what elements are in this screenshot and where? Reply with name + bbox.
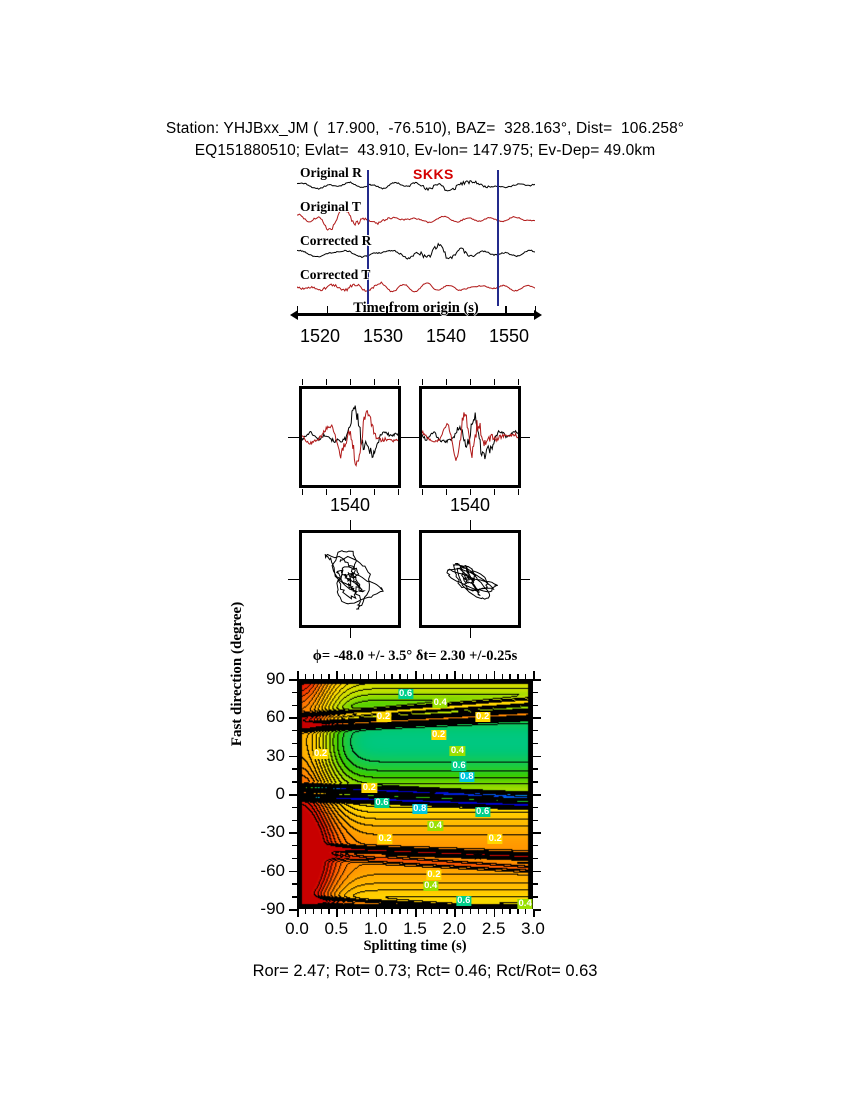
x-axis-tick (344, 674, 345, 679)
x-axis-tick (439, 674, 440, 679)
trace-row: Original T (297, 202, 535, 237)
time-axis-title: Time from origin (s) (297, 300, 535, 317)
x-axis-tick (352, 909, 353, 914)
y-axis-tick (289, 832, 297, 834)
y-axis-tick (292, 896, 297, 897)
y-axis-tick (533, 820, 538, 821)
x-axis-tick (407, 909, 408, 914)
contour-label: 0.4 (518, 899, 533, 909)
x-axis-tick-label: 0.5 (325, 919, 349, 939)
mid-waveform-tick (374, 379, 375, 385)
y-axis-tick (292, 820, 297, 821)
x-axis-tick (376, 909, 378, 917)
x-axis-tick (423, 909, 424, 914)
y-axis-tick-label: -60 (245, 861, 285, 881)
x-axis-tick (384, 909, 385, 914)
y-axis-tick (533, 794, 541, 796)
contour-label: 0.2 (475, 712, 490, 722)
x-axis-tick (533, 671, 535, 679)
mid-waveform-tick (326, 379, 327, 385)
y-axis-tick-label: 60 (245, 707, 285, 727)
time-tick-label: 1530 (363, 326, 403, 347)
contour-label: 0.8 (459, 772, 474, 782)
x-axis-tick-label: 0.0 (285, 919, 309, 939)
y-axis-tick (289, 756, 297, 758)
y-axis-tick (533, 896, 538, 897)
x-axis-tick (478, 909, 479, 914)
contour-label: 0.2 (313, 749, 328, 759)
best-solution-star-marker: ★ (472, 850, 485, 860)
header-line-station: Station: YHJBxx_JM ( 17.900, -76.510), B… (0, 118, 850, 140)
y-axis-tick (292, 692, 297, 693)
x-axis-tick (525, 674, 526, 679)
x-axis-tick (446, 909, 447, 914)
trace-row: Original R (297, 168, 535, 203)
x-axis-tick (321, 909, 322, 914)
contour-label: 0.6 (451, 761, 466, 771)
y-axis-tick (533, 832, 541, 834)
mid-waveform-tick (446, 489, 447, 495)
x-axis-tick (313, 674, 314, 679)
x-axis-tick (509, 674, 510, 679)
y-axis-tick-label: -90 (245, 899, 285, 919)
contour-label: 0.8 (412, 804, 427, 814)
mid-waveform-tick (518, 379, 519, 385)
mid-waveform-right-traces (422, 389, 518, 485)
x-axis-tick (517, 909, 518, 914)
trace-row: Corrected R (297, 236, 535, 271)
x-axis-tick (502, 909, 503, 914)
x-axis-tick (305, 674, 306, 679)
x-axis-tick (423, 674, 424, 679)
figure-header: Station: YHJBxx_JM ( 17.900, -76.510), B… (0, 118, 850, 162)
y-axis-tick (292, 845, 297, 846)
x-axis-tick (478, 674, 479, 679)
mid-waveform-tick (398, 489, 399, 495)
x-axis-tick (328, 909, 329, 914)
y-axis-tick (292, 807, 297, 808)
x-axis-title: Splitting time (s) (297, 938, 533, 955)
contour-label: 0.2 (426, 870, 441, 880)
time-tick-label: 1540 (426, 326, 466, 347)
contour-label: 0.6 (398, 689, 413, 699)
contour-label: 0.4 (423, 881, 438, 891)
x-axis-tick (462, 909, 463, 914)
y-axis-tick (292, 743, 297, 744)
x-axis-tick (415, 909, 417, 917)
contour-label: 0.4 (428, 821, 443, 831)
x-axis-tick (486, 909, 487, 914)
y-axis-tick (292, 781, 297, 782)
mid-waveform-tick (494, 379, 495, 385)
x-axis-tick (454, 671, 456, 679)
y-axis-tick (292, 858, 297, 859)
x-axis-tick (368, 909, 369, 914)
x-axis-tick (305, 909, 306, 914)
x-axis-tick (517, 674, 518, 679)
x-axis-tick (336, 671, 338, 679)
x-axis-tick (494, 671, 496, 679)
x-axis-tick (360, 674, 361, 679)
y-axis-tick (533, 768, 538, 769)
x-axis-tick (336, 909, 338, 917)
quality-metrics-footer: Ror= 2.47; Rot= 0.73; Rct= 0.46; Rct/Rot… (0, 962, 850, 981)
y-axis-tick (292, 730, 297, 731)
mid-waveform-tick (326, 489, 327, 495)
contour-label: 0.6 (456, 896, 471, 906)
y-axis-tick (289, 871, 297, 873)
y-axis-tick (533, 692, 538, 693)
time-tick-label: 1520 (300, 326, 340, 347)
x-axis-tick-label: 1.5 (403, 919, 427, 939)
mid-waveform-tick (470, 489, 471, 495)
y-axis-tick (289, 679, 297, 681)
contour-label: 0.2 (377, 834, 392, 844)
mid-waveform-tick (446, 379, 447, 385)
y-axis-tick (533, 743, 538, 744)
waveform-trace-panel: Original R Original T Corrected R Correc… (297, 168, 535, 308)
y-axis-tick-label: -30 (245, 822, 285, 842)
contour-label: 0.2 (376, 712, 391, 722)
x-axis-tick (391, 909, 392, 914)
window-end-marker (497, 170, 499, 306)
x-axis-tick (391, 674, 392, 679)
y-axis-tick (533, 807, 538, 808)
x-axis-tick (509, 909, 510, 914)
x-axis-tick-label: 3.0 (521, 919, 545, 939)
mid-waveform-tick (422, 489, 423, 495)
x-axis-tick-label: 2.5 (482, 919, 506, 939)
x-axis-tick (297, 909, 299, 917)
y-axis-tick (533, 717, 541, 719)
x-axis-tick (407, 674, 408, 679)
y-axis-title: Fast direction (degree) (229, 574, 246, 774)
trace-label: Corrected R (300, 233, 371, 249)
y-axis-tick-label: 90 (245, 669, 285, 689)
y-axis-tick (533, 883, 538, 884)
error-surface-canvas (297, 679, 533, 909)
x-axis-tick (360, 909, 361, 914)
x-axis-tick (384, 674, 385, 679)
contour-label: 0.4 (433, 698, 448, 708)
y-axis-tick (533, 871, 541, 873)
x-axis-tick (470, 909, 471, 914)
x-axis-tick (399, 909, 400, 914)
x-axis-tick (502, 674, 503, 679)
mid-waveform-left-caption: 1540 (330, 495, 370, 516)
x-axis-tick (321, 674, 322, 679)
mid-waveform-tick (494, 489, 495, 495)
x-axis-tick (415, 671, 417, 679)
mid-waveform-left-traces (302, 389, 398, 485)
y-axis-tick (292, 883, 297, 884)
time-axis-tick (535, 306, 536, 314)
x-axis-tick (494, 909, 496, 917)
mid-waveform-tick (350, 379, 351, 385)
particle-motion-right-path (422, 533, 518, 625)
x-axis-tick-label: 1.0 (364, 919, 388, 939)
mid-waveform-tick (398, 379, 399, 385)
x-axis-tick (368, 674, 369, 679)
x-axis-tick (486, 674, 487, 679)
x-axis-tick (352, 674, 353, 679)
x-axis-tick (399, 674, 400, 679)
y-axis-tick (289, 717, 297, 719)
mid-waveform-tick (350, 489, 351, 495)
x-axis-tick (454, 909, 456, 917)
y-axis-tick (289, 794, 297, 796)
mid-waveform-tick (518, 489, 519, 495)
time-tick-label: 1550 (489, 326, 529, 347)
y-axis-tick (292, 705, 297, 706)
mid-waveform-tick (302, 489, 303, 495)
contour-label: 0.4 (450, 746, 465, 756)
contour-label: 0.6 (475, 807, 490, 817)
x-axis-tick (376, 671, 378, 679)
particle-motion-left-path (302, 533, 398, 625)
x-axis-tick (313, 909, 314, 914)
x-axis-tick (328, 674, 329, 679)
x-axis-tick (297, 671, 299, 679)
x-axis-tick (431, 909, 432, 914)
x-axis-tick-label: 2.0 (443, 919, 467, 939)
contour-label: 0.2 (362, 783, 377, 793)
contour-label: 0.2 (488, 834, 503, 844)
y-axis-tick (533, 845, 538, 846)
splitting-result-title: ϕ= -48.0 +/- 3.5° δt= 2.30 +/-0.25s (260, 648, 570, 665)
mid-waveform-tick (422, 379, 423, 385)
y-axis-tick (533, 679, 541, 681)
error-surface-plot: 0.60.40.20.20.20.20.40.60.80.20.60.80.60… (297, 679, 533, 909)
y-axis-tick (533, 705, 538, 706)
y-axis-tick (533, 781, 538, 782)
y-axis-tick-label: 0 (245, 784, 285, 804)
mid-waveform-tick (470, 379, 471, 385)
y-axis-tick (533, 730, 538, 731)
x-axis-tick (431, 674, 432, 679)
mid-waveform-tick (302, 379, 303, 385)
header-line-event: EQ151880510; Evlat= 43.910, Ev-lon= 147.… (0, 140, 850, 162)
y-axis-tick (289, 909, 297, 911)
contour-label: 0.6 (374, 798, 389, 808)
contour-label: 0.2 (431, 730, 446, 740)
y-axis-tick (292, 768, 297, 769)
x-axis-tick (462, 674, 463, 679)
trace-label: Original R (300, 165, 362, 181)
y-axis-tick-label: 30 (245, 746, 285, 766)
x-axis-tick (446, 674, 447, 679)
x-axis-tick (344, 909, 345, 914)
x-axis-tick (470, 674, 471, 679)
trace-label: Original T (300, 199, 361, 215)
x-axis-tick (439, 909, 440, 914)
mid-waveform-right-caption: 1540 (450, 495, 490, 516)
y-axis-tick (533, 858, 538, 859)
x-axis-tick (525, 909, 526, 914)
trace-label: Corrected T (300, 267, 370, 283)
y-axis-tick (533, 909, 541, 911)
mid-waveform-tick (374, 489, 375, 495)
y-axis-tick (533, 756, 541, 758)
